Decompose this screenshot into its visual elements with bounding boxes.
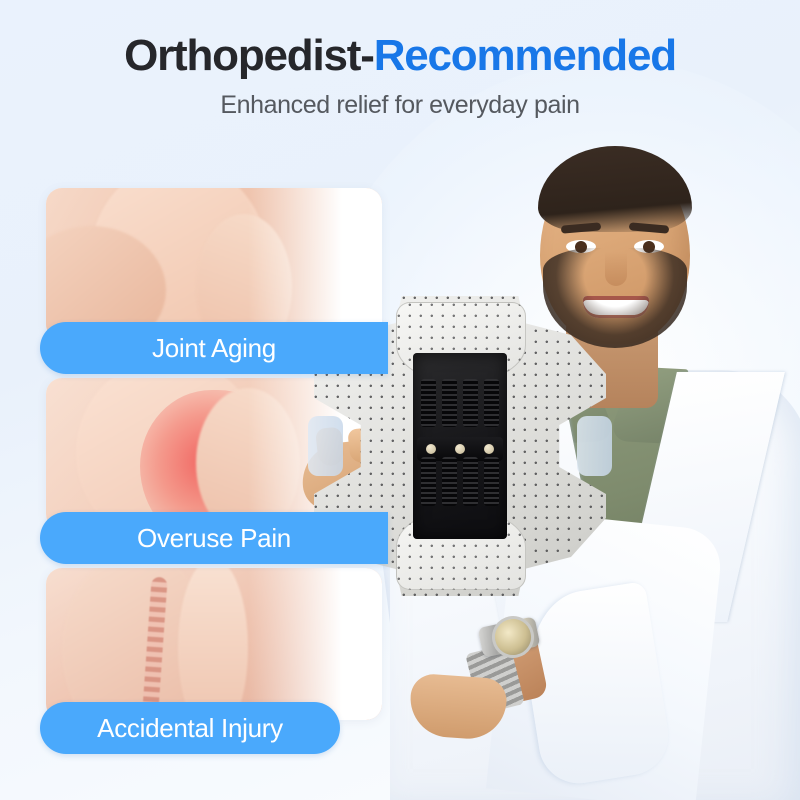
headline-part-one: Orthopedist- — [124, 31, 374, 80]
brace-spring-row-top — [421, 379, 499, 427]
brace-spring-row-bottom — [421, 457, 499, 505]
brace-spring — [421, 379, 436, 427]
brace-spring — [463, 457, 478, 505]
page-subtitle: Enhanced relief for everyday pain — [0, 91, 800, 120]
brace-spring — [442, 379, 457, 427]
brace-spring — [484, 379, 499, 427]
doctor-hair — [538, 146, 692, 232]
badge-accidental-injury[interactable]: Accidental Injury — [40, 702, 340, 754]
badge-overuse-pain[interactable]: Overuse Pain — [40, 512, 388, 564]
brace-hinge-panel — [413, 353, 506, 539]
headline-part-two: Recommended — [374, 31, 676, 80]
brace-strap-right — [577, 416, 612, 476]
hinge-rivet — [484, 444, 494, 454]
brace-spring — [442, 457, 457, 505]
brace-spring — [484, 457, 499, 505]
product-advertisement: Orthopedist-Recommended Enhanced relief … — [0, 0, 800, 800]
hinge-rivet — [426, 444, 436, 454]
brace-spring — [463, 379, 478, 427]
brace-strap-left — [308, 416, 343, 476]
brace-spring — [421, 457, 436, 505]
badge-joint-aging[interactable]: Joint Aging — [40, 322, 388, 374]
second-leg-shape — [178, 568, 248, 720]
page-title: Orthopedist-Recommended — [0, 33, 800, 79]
hinge-rivet — [455, 444, 465, 454]
